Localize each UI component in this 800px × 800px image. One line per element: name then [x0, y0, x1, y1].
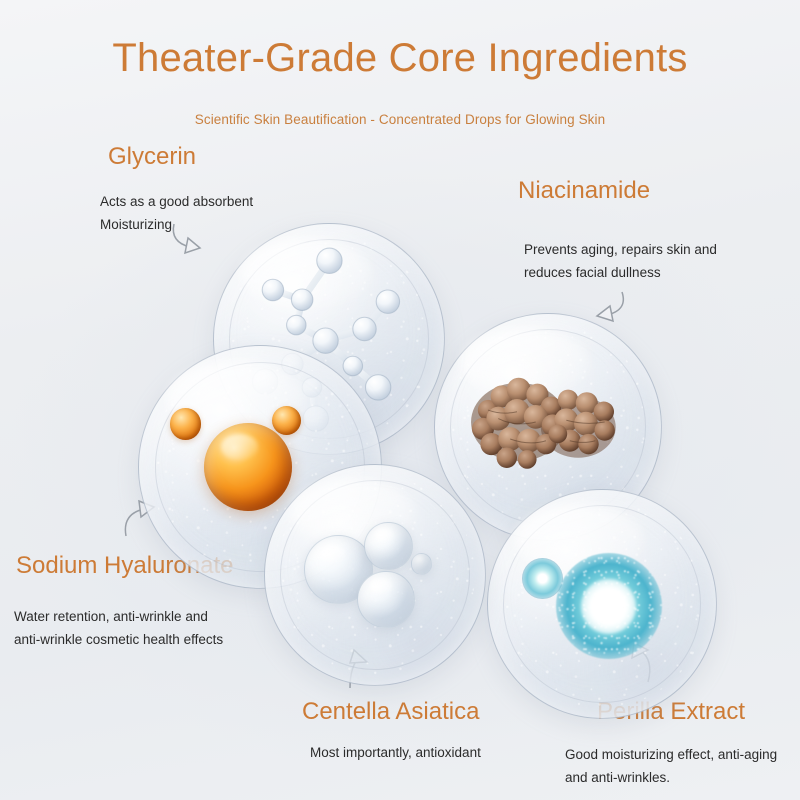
clear-sphere-tiny — [411, 553, 433, 575]
teal-burst-core — [581, 579, 636, 634]
dried-flower-cluster-icon — [461, 359, 634, 487]
ingredient-name-niacinamide: Niacinamide — [518, 178, 650, 204]
ingredient-description-niacinamide: Prevents aging, repairs skin and reduces… — [524, 238, 717, 284]
ingredient-description-glycerin: Acts as a good absorbent Moisturizing — [100, 190, 253, 236]
page-title: Theater-Grade Core Ingredients — [0, 36, 800, 81]
amber-droplet-main — [204, 423, 292, 511]
petri-dish-perilla-extract — [487, 489, 717, 719]
ingredient-description-sodium-hyaluronate: Water retention, anti-wrinkle and anti-w… — [14, 605, 223, 651]
ingredient-name-glycerin: Glycerin — [108, 144, 196, 170]
ingredient-description-perilla-extract: Good moisturizing effect, anti-aging and… — [565, 743, 777, 789]
ingredient-infographic: Theater-Grade Core Ingredients Scientifi… — [0, 0, 800, 800]
petri-dish-centella-asiatica — [264, 464, 486, 686]
ingredient-description-centella-asiatica: Most importantly, antioxidant — [310, 741, 481, 764]
page-subtitle: Scientific Skin Beautification - Concent… — [0, 112, 800, 127]
clear-sphere-top — [364, 522, 413, 571]
ingredient-name-centella-asiatica: Centella Asiatica — [302, 699, 479, 725]
clear-sphere-bottom — [357, 571, 415, 629]
